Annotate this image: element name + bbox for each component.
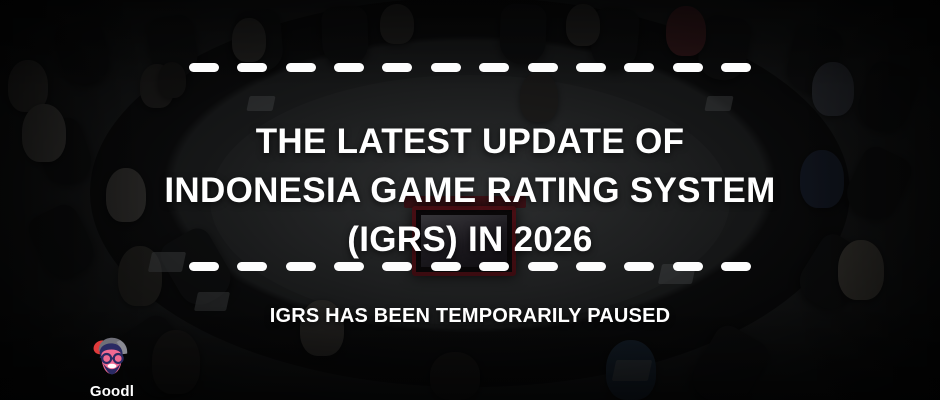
igrs-announcement-banner: THE LATEST UPDATE OF INDONESIA GAME RATI… — [0, 0, 940, 400]
divider-dash — [721, 63, 751, 72]
divider-dash — [382, 262, 412, 271]
divider-dash — [576, 63, 606, 72]
avatar-icon — [85, 334, 139, 382]
headline-line-2: INDONESIA GAME RATING SYSTEM — [0, 166, 940, 215]
page-title: THE LATEST UPDATE OF INDONESIA GAME RATI… — [0, 117, 940, 264]
divider-dash — [673, 63, 703, 72]
divider-dash — [286, 262, 316, 271]
divider-dash — [479, 262, 509, 271]
headline-line-1: THE LATEST UPDATE OF — [0, 117, 940, 166]
divider-dash — [237, 63, 267, 72]
divider-dash — [334, 63, 364, 72]
divider-dash — [189, 262, 219, 271]
watermark-name: Goodl — [90, 383, 134, 400]
headline-line-3: (IGRS) IN 2026 — [0, 215, 940, 264]
divider-top — [189, 62, 751, 73]
subtitle: IGRS HAS BEEN TEMPORARILY PAUSED — [0, 305, 940, 328]
divider-dash — [721, 262, 751, 271]
divider-dash — [479, 63, 509, 72]
divider-dash — [334, 262, 364, 271]
divider-dash — [673, 262, 703, 271]
divider-dash — [237, 262, 267, 271]
divider-dash — [189, 63, 219, 72]
divider-dash — [382, 63, 412, 72]
divider-dash — [431, 63, 461, 72]
divider-dash — [624, 262, 654, 271]
divider-dash — [431, 262, 461, 271]
divider-bottom — [189, 261, 751, 272]
divider-dash — [528, 63, 558, 72]
divider-dash — [576, 262, 606, 271]
divider-dash — [528, 262, 558, 271]
overlay-content: THE LATEST UPDATE OF INDONESIA GAME RATI… — [0, 0, 940, 400]
divider-dash — [286, 63, 316, 72]
divider-dash — [624, 63, 654, 72]
watermark: Goodl — [52, 334, 172, 400]
